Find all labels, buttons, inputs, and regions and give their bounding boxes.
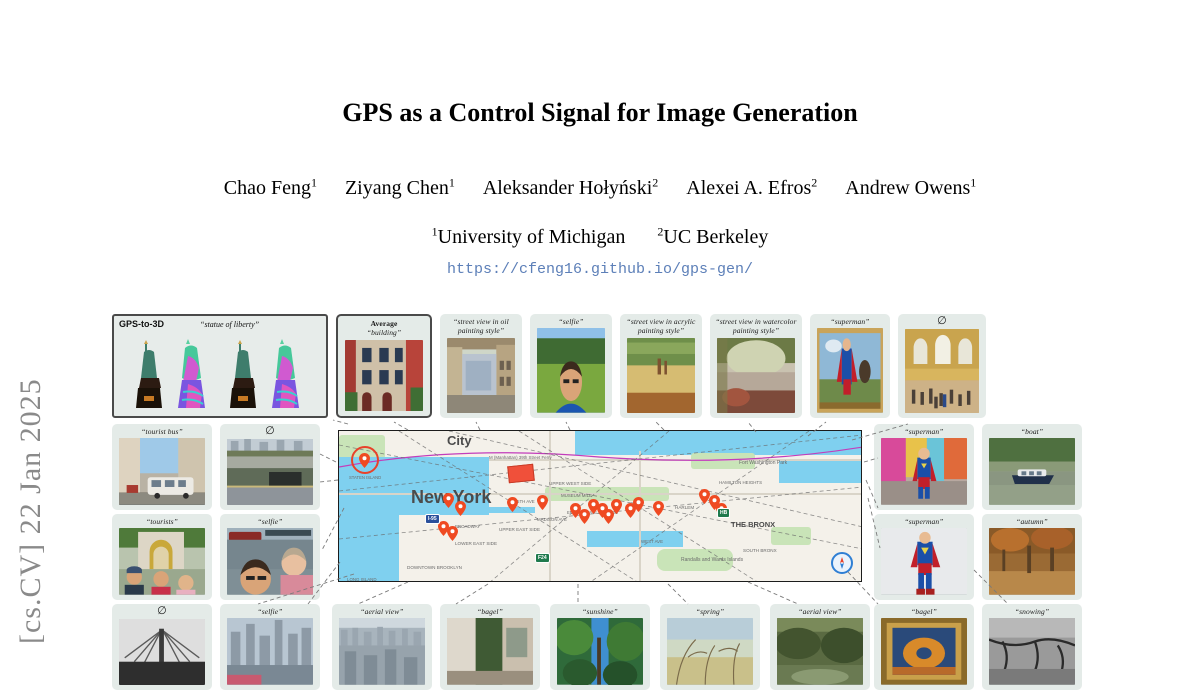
card-caption: “aerial view”	[770, 604, 870, 618]
sample-card-snowing[interactable]: “snowing”	[982, 604, 1082, 690]
sample-card-spring[interactable]: “spring”	[660, 604, 760, 690]
thumbnail-watercolor-painting-path	[717, 338, 795, 413]
sample-card-tourist-bus[interactable]: “tourist bus”	[112, 424, 212, 510]
highway-shield: HB	[717, 508, 730, 518]
sample-card-aerial-view-1[interactable]: “aerial view”	[332, 604, 432, 690]
author-4-affil-marker: 1	[970, 175, 976, 189]
map-pin[interactable]	[359, 453, 370, 468]
sample-card-aerial-view-2[interactable]: “aerial view”	[770, 604, 870, 690]
thumbnail-oil-painting-street	[447, 338, 515, 413]
card-caption: “superman”	[810, 314, 890, 328]
average-card-caption: “building”	[338, 328, 430, 339]
card-caption: “sunshine”	[550, 604, 650, 618]
thumbnail-bridge-cables-bw	[119, 619, 205, 685]
card-caption: “aerial view”	[332, 604, 432, 618]
affiliation-0: 1University of Michigan	[432, 226, 626, 248]
sample-card-sunshine[interactable]: “sunshine”	[550, 604, 650, 690]
thumbnail-aerial-cityscape	[339, 618, 425, 685]
thumbnail-memorial-pool	[227, 439, 313, 505]
highway-shield: I-95	[425, 514, 440, 524]
thumbnail-sunshine-through-trees	[557, 618, 643, 685]
card-caption: “tourists”	[112, 514, 212, 528]
thumbnail-selfie-man-park	[537, 328, 605, 413]
author-0: Chao Feng1	[224, 177, 317, 199]
arxiv-stamp-text: [cs.CV] 22 Jan 2025	[14, 378, 48, 644]
card-caption: “superman”	[874, 514, 974, 528]
author-3: Alexei A. Efros2	[686, 177, 817, 199]
teaser-figure: GPS-to-3D “statue of liberty”	[108, 312, 1092, 652]
sample-card-autumn[interactable]: “autumn”	[982, 514, 1082, 600]
thumbnail-superman-times-square	[881, 438, 967, 505]
sample-card-selfie-skyline[interactable]: “selfie”	[220, 604, 320, 690]
affiliation-list: 1University of Michigan2UC Berkeley	[0, 224, 1200, 249]
author-list: Chao Feng1Ziyang Chen1Aleksander Hołyńsk…	[0, 175, 1200, 200]
card-caption: ∅	[220, 424, 320, 439]
statue-render-textured-2	[226, 336, 260, 412]
map-pin[interactable]	[611, 499, 622, 514]
map-panel[interactable]: CityNew YorkTHE BRONXSTATEN ISLANDUPPER …	[338, 430, 862, 582]
sample-card-null-bridge[interactable]: ∅	[112, 604, 212, 690]
author-0-affil-marker: 1	[311, 175, 317, 189]
thumbnail-tourist-bus-street	[119, 438, 205, 505]
author-3-affil-marker: 2	[811, 175, 817, 189]
map-pin[interactable]	[537, 495, 548, 510]
thumbnail-autumn-path	[989, 528, 1075, 595]
card-caption: “selfie”	[220, 604, 320, 618]
sample-card-selfie-man[interactable]: “selfie”	[530, 314, 612, 418]
thumbnail-boat-on-river	[989, 438, 1075, 505]
map-pin[interactable]	[455, 501, 466, 516]
sample-card-street-acrylic[interactable]: “street view in acrylic painting style”	[620, 314, 702, 418]
card-caption: “autumn”	[982, 514, 1082, 528]
project-url-text: https://cfeng16.github.io/gps-gen/	[447, 261, 753, 278]
card-caption: “street view in watercolor painting styl…	[710, 314, 802, 338]
sample-card-tourists[interactable]: “tourists”	[112, 514, 212, 600]
highway-shield: F24	[535, 553, 550, 563]
card-caption: “tourist bus”	[112, 424, 212, 438]
thumbnail-acrylic-painting-park	[627, 338, 695, 413]
sample-card-bagel-painting[interactable]: “bagel”	[874, 604, 974, 690]
thumbnail-superman-figurine	[881, 528, 967, 595]
map-pin[interactable]	[653, 501, 664, 516]
author-2: Aleksander Hołyński2	[483, 177, 658, 199]
card-caption: ∅	[112, 604, 212, 619]
sample-card-superman-figurine[interactable]: “superman”	[874, 514, 974, 600]
sample-card-selfie-women[interactable]: “selfie”	[220, 514, 320, 600]
author-2-affil-marker: 2	[652, 175, 658, 189]
sample-card-superman-painting[interactable]: “superman”	[810, 314, 890, 418]
card-caption: “selfie”	[530, 314, 612, 328]
sample-card-null-grand-central[interactable]: ∅	[898, 314, 986, 418]
card-caption: “selfie”	[220, 514, 320, 528]
map-city-label: THE BRONX	[731, 520, 775, 529]
average-building-card[interactable]: Average “building”	[336, 314, 432, 418]
central-park-marker	[507, 464, 535, 484]
author-1-affil-marker: 1	[449, 175, 455, 189]
author-4: Andrew Owens1	[845, 177, 976, 199]
sample-card-null-memorial[interactable]: ∅	[220, 424, 320, 510]
sample-card-bagel-shop[interactable]: “bagel”	[440, 604, 540, 690]
card-caption: “bagel”	[440, 604, 540, 618]
card-caption: “street view in oil painting style”	[440, 314, 522, 338]
gps-to-3d-panel: GPS-to-3D “statue of liberty”	[112, 314, 328, 418]
thumbnail-grand-central-terminal	[905, 329, 979, 413]
thumbnail-bagel-shop	[447, 618, 533, 685]
thumbnail-selfie-two-women-water	[227, 528, 313, 595]
card-caption: “boat”	[982, 424, 1082, 438]
map-pin[interactable]	[507, 497, 518, 512]
card-caption: ∅	[898, 314, 986, 329]
thumbnail-superman-oil-painting	[817, 328, 883, 413]
card-caption: “snowing”	[982, 604, 1082, 618]
gps-to-3d-header: GPS-to-3D	[119, 319, 164, 329]
thumbnail-spring-branches	[667, 618, 753, 685]
compass-icon[interactable]	[831, 552, 853, 574]
card-caption: “spring”	[660, 604, 760, 618]
card-caption: “superman”	[874, 424, 974, 438]
statue-render-normalmap-1	[174, 336, 208, 412]
sample-card-boat[interactable]: “boat”	[982, 424, 1082, 510]
thumbnail-bagel-framed-painting	[881, 618, 967, 685]
thumbnail-snowing-tree-bw	[989, 618, 1075, 685]
author-1: Ziyang Chen1	[345, 177, 455, 199]
statue-render-textured-1	[132, 336, 166, 412]
thumbnail-selfie-skyline	[227, 618, 313, 685]
sample-card-street-oil[interactable]: “street view in oil painting style”	[440, 314, 522, 418]
thumbnail-tourists-washington-arch	[119, 528, 205, 595]
average-card-header: Average	[338, 316, 430, 328]
affiliation-1: 2UC Berkeley	[657, 226, 768, 248]
map-pin[interactable]	[447, 526, 458, 541]
card-caption: “bagel”	[874, 604, 974, 618]
map-city-label: City	[447, 433, 472, 448]
sample-card-superman-times-square[interactable]: “superman”	[874, 424, 974, 510]
thumbnail-average-building	[345, 340, 423, 411]
project-url-link[interactable]: https://cfeng16.github.io/gps-gen/	[0, 261, 1200, 278]
page-title: GPS as a Control Signal for Image Genera…	[0, 98, 1200, 128]
gps-to-3d-prompt: “statue of liberty”	[200, 320, 259, 329]
map-pin[interactable]	[443, 493, 454, 508]
thumbnail-aerial-green-river	[777, 618, 863, 685]
sample-card-street-watercolor[interactable]: “street view in watercolor painting styl…	[710, 314, 802, 418]
statue-render-normalmap-2	[268, 336, 302, 412]
map-pin[interactable]	[633, 497, 644, 512]
card-caption: “street view in acrylic painting style”	[620, 314, 702, 338]
